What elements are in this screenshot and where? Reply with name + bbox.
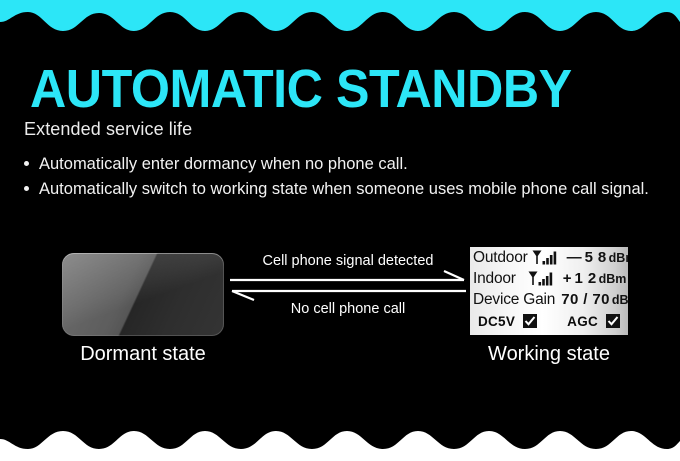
dormant-state-caption: Dormant state [62,341,224,367]
lcd-indoor-unit: dBm [599,272,627,286]
feature-bullet-list: Automatically enter dormancy when no pho… [24,152,654,202]
slide-root: AUTOMATIC STANDBY Extended service life … [0,0,680,461]
top-wave-decoration [0,0,680,42]
lcd-indoor-label: Indoor [473,270,516,288]
lcd-row-outdoor: Outdoor — 5 8 dBm [470,247,628,268]
working-state-lcd-display: Outdoor — 5 8 dBm Indoor [470,247,628,335]
arrow-lines-icon [228,252,468,322]
page-subtitle: Extended service life [24,118,192,140]
lcd-status-row: DC5V AGC [470,310,628,332]
lcd-indoor-sign: + [563,270,572,287]
lcd-gain-label: Device Gain [473,291,555,309]
lcd-dc5v-label: DC5V [478,314,515,329]
agc-checkbox[interactable] [606,314,620,328]
lcd-outdoor-unit: dBm [609,251,628,265]
bullet-dot-icon [24,161,29,166]
bullet-dot-icon [24,186,29,191]
dormant-device-illustration [62,253,224,336]
lcd-row-indoor: Indoor + 1 2 dBm [470,268,628,289]
signal-bars-icon [528,271,554,286]
list-item: Automatically enter dormancy when no pho… [24,152,654,176]
device-gloss-overlay [62,253,224,336]
bottom-wave-decoration [0,413,680,461]
lcd-outdoor-label: Outdoor [473,249,528,267]
working-state-caption: Working state [462,341,636,367]
dc5v-checkbox[interactable] [523,314,537,328]
lcd-row-device-gain: Device Gain 70 / 70 dB [470,289,628,310]
list-item-text: Automatically enter dormancy when no pho… [39,155,408,173]
lcd-indoor-value: 1 2 [575,270,597,287]
lcd-agc-label: AGC [567,314,598,329]
lcd-outdoor-sign: — [567,249,582,266]
list-item-text: Automatically switch to working state wh… [39,180,649,198]
state-transition-arrows: Cell phone signal detected No cell phone… [228,252,468,322]
lcd-outdoor-value: 5 8 [585,249,607,266]
lcd-gain-value: 70 / 70 [561,291,610,308]
page-title: AUTOMATIC STANDBY [30,62,572,116]
lcd-gain-unit: dB [612,293,628,307]
signal-bars-icon [532,250,558,265]
list-item: Automatically switch to working state wh… [24,177,654,201]
